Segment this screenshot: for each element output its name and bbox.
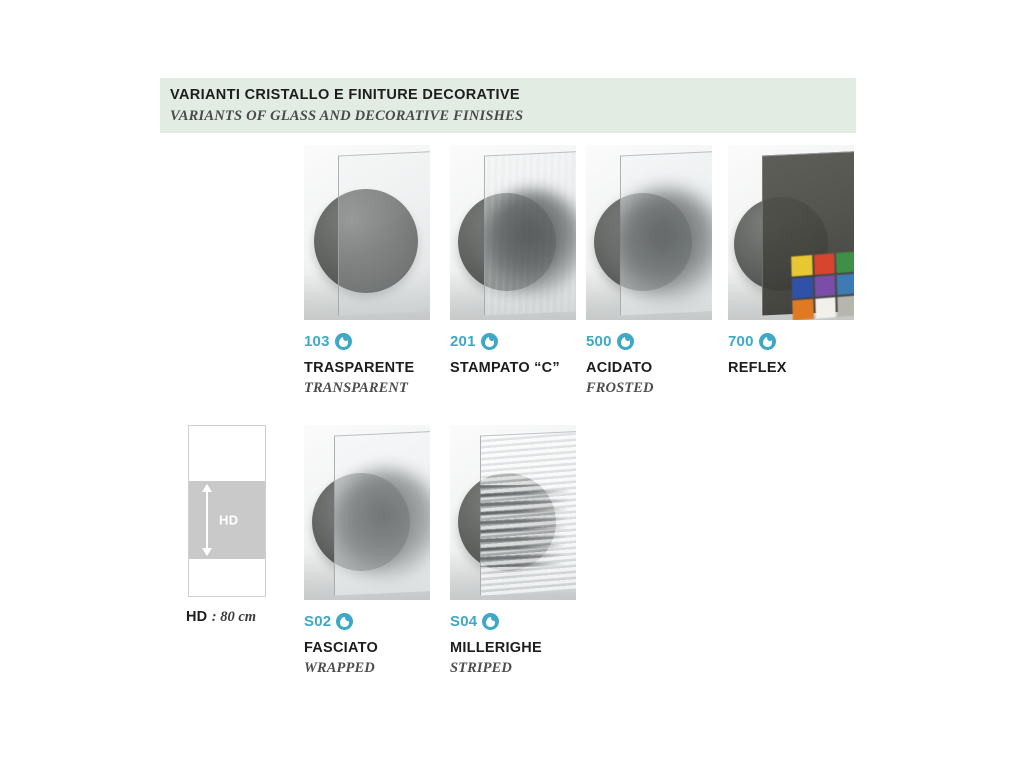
hd-band: HD bbox=[189, 481, 265, 559]
sample-code-row: S04 bbox=[450, 612, 576, 631]
sample-name-en: TRANSPARENT bbox=[304, 379, 430, 397]
sample-name-en: FROSTED bbox=[586, 379, 712, 397]
swatch-purple bbox=[814, 275, 835, 297]
swatch-yellow bbox=[791, 255, 812, 277]
sample-card-500[interactable]: 500 ACIDATO FROSTED bbox=[586, 145, 712, 397]
sample-name-it: TRASPARENTE bbox=[304, 359, 430, 377]
glass-finish-icon bbox=[335, 333, 352, 350]
sample-image-stampato-c bbox=[450, 145, 576, 320]
sample-card-s02[interactable]: S02 FASCIATO WRAPPED bbox=[304, 425, 430, 677]
page-title: VARIANTI CRISTALLO E FINITURE DECORATIVE bbox=[170, 85, 856, 105]
sample-name-it: FASCIATO bbox=[304, 639, 430, 657]
sample-card-s04[interactable]: S04 MILLERIGHE STRIPED bbox=[450, 425, 576, 677]
sample-code: 700 bbox=[728, 332, 754, 351]
sample-image-acidato bbox=[586, 145, 712, 320]
hd-dimension-diagram: HD bbox=[188, 425, 266, 597]
sample-card-201[interactable]: 201 STAMPATO “C” bbox=[450, 145, 576, 379]
sample-code: 500 bbox=[586, 332, 612, 351]
sample-caption: 103 TRASPARENTE TRANSPARENT bbox=[304, 332, 430, 397]
hd-caption-value: : 80 cm bbox=[212, 609, 256, 625]
swatch-cyan-blue bbox=[837, 273, 854, 295]
section-header-band: VARIANTI CRISTALLO E FINITURE DECORATIVE… bbox=[160, 78, 856, 133]
sample-name-it: ACIDATO bbox=[586, 359, 712, 377]
sample-image-millerighe bbox=[450, 425, 576, 600]
swatch-orange bbox=[792, 299, 813, 320]
glass-pane bbox=[338, 151, 430, 316]
swatch-grey bbox=[838, 295, 854, 317]
swatch-red bbox=[814, 253, 835, 275]
sample-code: 103 bbox=[304, 332, 330, 351]
striped-sphere-smear bbox=[480, 485, 572, 567]
sample-name-it: STAMPATO “C” bbox=[450, 359, 576, 377]
catalog-page: VARIANTI CRISTALLO E FINITURE DECORATIVE… bbox=[0, 0, 1024, 768]
sample-code-row: 700 bbox=[728, 332, 854, 351]
sample-name-it: REFLEX bbox=[728, 359, 854, 377]
sample-caption: 700 REFLEX bbox=[728, 332, 854, 377]
sample-code-row: 103 bbox=[304, 332, 430, 351]
glass-finish-icon bbox=[481, 333, 498, 350]
sample-caption: 201 STAMPATO “C” bbox=[450, 332, 576, 377]
sample-code: S04 bbox=[450, 612, 477, 631]
sample-caption: S04 MILLERIGHE STRIPED bbox=[450, 612, 576, 677]
blurred-sphere-through-glass bbox=[482, 189, 576, 295]
sample-caption: S02 FASCIATO WRAPPED bbox=[304, 612, 430, 677]
sample-name-en: STRIPED bbox=[450, 659, 576, 677]
swatch-white bbox=[815, 297, 836, 319]
sample-name-en: WRAPPED bbox=[304, 659, 430, 677]
hd-band-label: HD bbox=[219, 513, 239, 528]
hd-caption: HD : 80 cm bbox=[186, 608, 316, 626]
swatch-green bbox=[836, 251, 854, 273]
sample-code-row: 500 bbox=[586, 332, 712, 351]
sample-code-row: S02 bbox=[304, 612, 430, 631]
sample-code-row: 201 bbox=[450, 332, 576, 351]
hd-arrow-icon bbox=[206, 485, 208, 555]
sample-card-700[interactable]: 700 REFLEX bbox=[728, 145, 854, 379]
swatch-blue bbox=[792, 277, 813, 299]
color-checker-swatches bbox=[791, 251, 854, 320]
glass-finish-icon bbox=[617, 333, 634, 350]
glass-finish-icon bbox=[759, 333, 776, 350]
sample-image-fasciato bbox=[304, 425, 430, 600]
glass-finish-icon bbox=[482, 613, 499, 630]
sample-code: 201 bbox=[450, 332, 476, 351]
sample-card-103[interactable]: 103 TRASPARENTE TRANSPARENT bbox=[304, 145, 430, 397]
sample-code: S02 bbox=[304, 612, 331, 631]
page-subtitle: VARIANTS OF GLASS AND DECORATIVE FINISHE… bbox=[170, 106, 856, 126]
glass-finish-icon bbox=[336, 613, 353, 630]
sample-name-it: MILLERIGHE bbox=[450, 639, 576, 657]
sample-caption: 500 ACIDATO FROSTED bbox=[586, 332, 712, 397]
sample-image-transparent bbox=[304, 145, 430, 320]
hd-caption-key: HD bbox=[186, 609, 207, 625]
sample-image-reflex bbox=[728, 145, 854, 320]
